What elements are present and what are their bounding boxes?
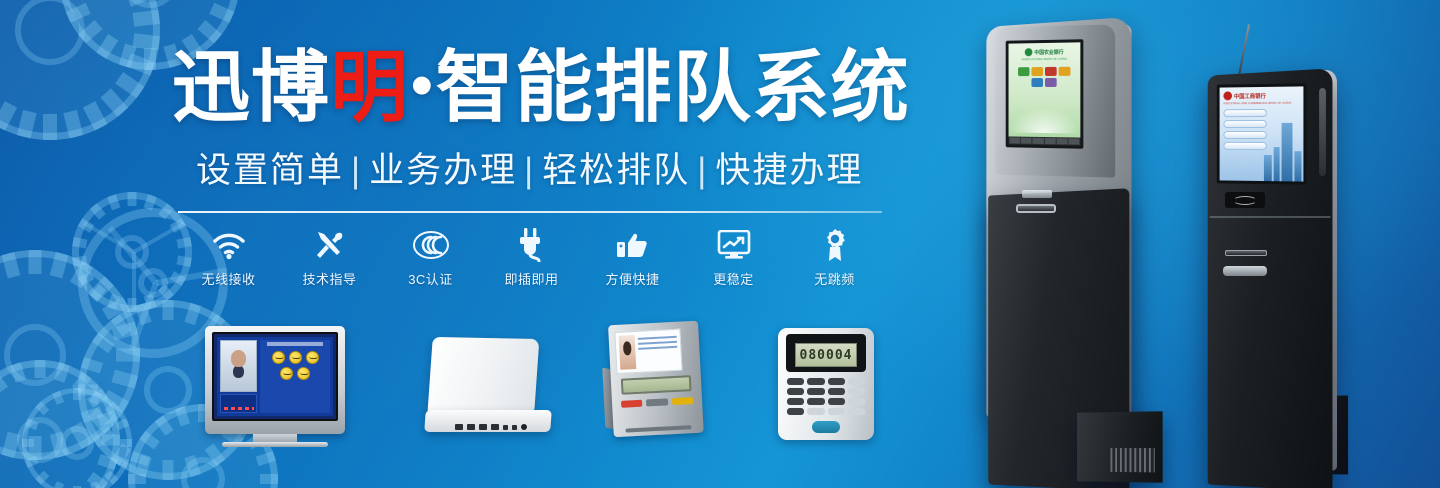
rating-face — [280, 367, 293, 380]
bank-subtitle: INDUSTRIAL AND COMMERCIAL BANK OF CHINA — [1223, 101, 1299, 106]
bank-logo-icon — [1025, 48, 1033, 56]
horizontal-divider — [178, 211, 882, 213]
keypad-enter-key[interactable] — [812, 421, 840, 433]
feature-label: 技术指导 — [302, 269, 356, 288]
subtitle-item: 设置简单 — [196, 151, 344, 190]
kiosk-base — [1077, 411, 1163, 482]
product-host-controller — [425, 338, 555, 434]
feature-list: 无线接收 技术指导 — [178, 226, 888, 292]
keypad-key-grid — [787, 378, 865, 415]
feature-label: 方便快捷 — [605, 269, 659, 288]
subtitle-separator: | — [344, 151, 369, 190]
bank-name: 中国农业银行 — [1034, 48, 1063, 55]
wifi-icon — [210, 226, 248, 264]
rating-stars — [224, 407, 254, 410]
kiosk-touchscreen[interactable]: 中国工商银行 INDUSTRIAL AND COMMERCIAL BANK OF… — [1217, 83, 1307, 184]
contactless-wave-icon — [1233, 196, 1257, 205]
product-evaluation-monitor — [205, 326, 345, 434]
feature-item-wireless: 无线接收 — [178, 226, 279, 288]
subtitle-item: 快捷办理 — [715, 151, 863, 190]
feature-item-ccc-certification: 3C认证 — [380, 226, 481, 288]
page-title: 迅博明•智能排队系统 — [172, 42, 910, 131]
ticket-dispenser-slot — [1225, 250, 1267, 256]
feature-label: 无线接收 — [201, 269, 255, 288]
product-call-keypad: 080004 — [778, 328, 874, 440]
product-showcase: 080004 — [0, 318, 940, 448]
screen-heading — [267, 342, 323, 346]
rail-slot — [1319, 88, 1326, 176]
award-medal-icon — [816, 226, 854, 264]
monitor-chart-icon — [715, 226, 753, 264]
monitor-base — [222, 442, 328, 447]
service-tile[interactable] — [1018, 67, 1029, 76]
rating-face — [289, 351, 302, 364]
screen-taskbar — [1009, 136, 1081, 145]
kiosk-touchscreen[interactable]: 中国农业银行 AGRICULTURAL BANK OF CHINA — [1006, 39, 1084, 149]
subtitle-item: 业务办理 — [369, 151, 517, 190]
keypad-lcd-display: 080004 — [795, 343, 857, 367]
staff-name-plate — [220, 394, 257, 413]
vent-grille — [1110, 448, 1154, 472]
evaluator-lcd — [621, 375, 692, 395]
banner-content: 迅博明•智能排队系统 设置简单|业务办理|轻松排队|快捷办理 无线接收 — [0, 0, 940, 488]
service-tile[interactable] — [1031, 67, 1043, 76]
ticket-dispenser-slot — [1016, 204, 1056, 213]
title-prefix: 迅博 — [172, 43, 330, 131]
service-tile[interactable] — [1045, 78, 1057, 87]
title-suffix: 智能排队系统 — [436, 43, 910, 131]
service-menu[interactable] — [1223, 109, 1267, 150]
skyline-graphic — [1264, 123, 1302, 182]
rating-face-group — [260, 349, 330, 382]
bank-name: 中国工商银行 — [1234, 91, 1266, 99]
menu-item-credit-card[interactable] — [1223, 142, 1267, 150]
feature-item-more-stable: 更稳定 — [683, 226, 784, 288]
feature-label: 更稳定 — [713, 269, 754, 288]
queue-kiosk-left: 中国农业银行 AGRICULTURAL BANK OF CHINA — [960, 22, 1170, 488]
title-dot: • — [409, 51, 436, 120]
service-tile-grid[interactable] — [1016, 67, 1072, 87]
ticket-tray — [1223, 266, 1267, 276]
antenna — [1238, 24, 1250, 75]
menu-item-personal[interactable] — [1223, 109, 1267, 117]
feature-label: 3C认证 — [408, 269, 453, 288]
subtitle-separator: | — [517, 151, 542, 190]
service-tile[interactable] — [1031, 78, 1043, 87]
feature-label: 即插即用 — [504, 269, 558, 288]
queue-kiosk-right: 中国工商银行 INDUSTRIAL AND COMMERCIAL BANK OF… — [1195, 28, 1395, 488]
rating-face — [297, 367, 310, 380]
subtitle-separator: | — [690, 151, 715, 190]
service-tile[interactable] — [1059, 67, 1071, 76]
rating-face — [306, 351, 319, 364]
title-highlight: 明 — [330, 43, 409, 131]
bank-logo-icon — [1223, 91, 1232, 100]
product-desktop-evaluator — [600, 320, 710, 441]
feature-label: 无跳频 — [814, 269, 855, 288]
promotional-banner: 迅博明•智能排队系统 设置简单|业务办理|轻松排队|快捷办理 无线接收 — [0, 0, 1440, 488]
service-tile[interactable] — [1045, 67, 1057, 76]
card-reader[interactable] — [1225, 192, 1265, 208]
id-card — [614, 329, 682, 374]
port-row — [455, 424, 527, 430]
bank-subtitle: AGRICULTURAL BANK OF CHINA — [1021, 57, 1067, 62]
menu-item-corporate[interactable] — [1223, 120, 1267, 128]
tools-icon — [311, 226, 349, 264]
evaluator-footer-strip — [625, 425, 691, 432]
feature-item-plug-and-play: 即插即用 — [481, 226, 582, 288]
thumbs-up-icon — [614, 226, 652, 264]
evaluator-keys — [621, 397, 693, 408]
keypad-lcd-value: 080004 — [800, 348, 853, 363]
feature-item-convenient: 方便快捷 — [582, 226, 683, 288]
ccc-certification-icon — [412, 226, 450, 264]
subtitle: 设置简单|业务办理|轻松排队|快捷办理 — [196, 148, 863, 193]
subtitle-item: 轻松排队 — [542, 151, 690, 190]
menu-item-loan[interactable] — [1223, 131, 1267, 139]
kiosk-brand-plate — [1022, 190, 1052, 198]
power-plug-icon — [513, 226, 551, 264]
rating-face — [272, 351, 285, 364]
id-photo — [619, 335, 637, 370]
staff-photo — [220, 340, 257, 392]
feature-item-no-frequency-hopping: 无跳频 — [784, 226, 885, 288]
feature-item-technical-support: 技术指导 — [279, 226, 380, 288]
